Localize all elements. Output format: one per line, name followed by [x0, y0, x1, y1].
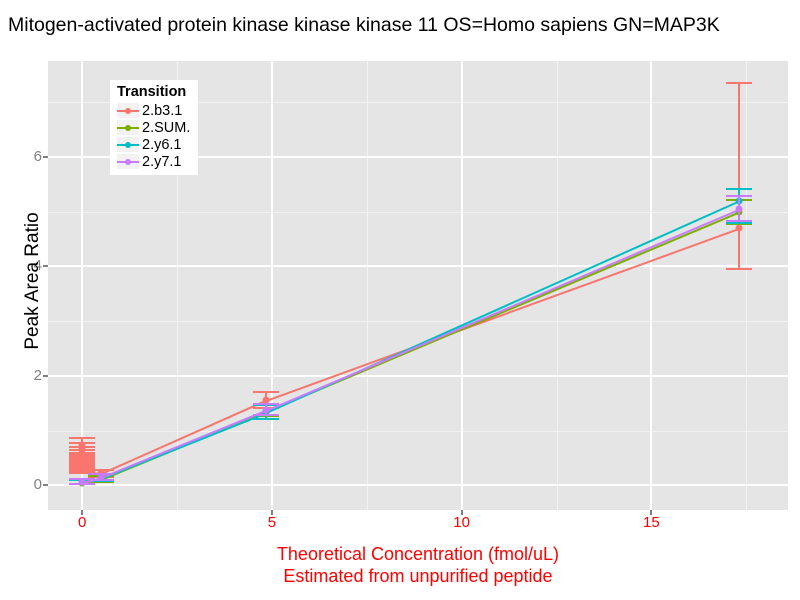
- x-tick-label: 0: [78, 514, 86, 531]
- gridline-minor-horizontal: [48, 321, 788, 322]
- error-bar-cap: [253, 418, 279, 420]
- series-line-segment: [101, 400, 267, 475]
- legend-key-icon: [117, 103, 139, 118]
- x-tick-label: 5: [268, 514, 276, 531]
- gridline-major-vertical: [650, 61, 652, 510]
- x-tick-label: 10: [453, 514, 470, 531]
- gridline-major-vertical: [461, 61, 463, 510]
- error-bar-cap: [726, 195, 752, 197]
- data-point: [79, 467, 86, 474]
- x-tick-mark: [461, 510, 463, 515]
- gridline-major-horizontal: [48, 484, 788, 486]
- x-axis-title-line-2: Estimated from unpurified peptide: [48, 565, 788, 587]
- legend-key-icon: [117, 154, 139, 169]
- data-point: [735, 225, 742, 232]
- legend-item-2-b3-1[interactable]: 2.b3.1: [117, 102, 190, 119]
- error-bar-cap: [253, 414, 279, 416]
- series-line-segment: [266, 201, 739, 414]
- gridline-minor-horizontal: [48, 212, 788, 213]
- x-axis-title-line-1: Theoretical Concentration (fmol/uL): [48, 543, 788, 565]
- error-bar-cap: [726, 82, 752, 84]
- y-tick-label: 0: [34, 476, 42, 493]
- legend-item-label: 2.b3.1: [142, 103, 182, 119]
- error-bar-cap: [253, 403, 279, 405]
- legend-item-label: 2.SUM.: [142, 120, 190, 136]
- series-line-segment: [266, 209, 739, 412]
- series-line-segment: [101, 412, 267, 480]
- x-tick-mark: [650, 510, 652, 515]
- y-axis-title: Peak Area Ratio: [22, 156, 44, 406]
- error-bar-cap: [253, 391, 279, 393]
- legend-key-icon: [117, 137, 139, 152]
- legend-item-2-y6-1[interactable]: 2.y6.1: [117, 136, 190, 153]
- error-bar-cap: [69, 437, 95, 439]
- gridline-minor-vertical: [746, 61, 747, 510]
- error-bar-cap: [726, 220, 752, 222]
- x-tick-mark: [271, 510, 273, 515]
- chart-plot: Mitogen-activated protein kinase kinase …: [0, 0, 800, 600]
- error-bar-cap: [726, 188, 752, 190]
- legend-items: 2.b3.12.SUM.2.y6.12.y7.1: [117, 102, 190, 170]
- series-line-segment: [101, 411, 267, 481]
- x-tick-label: 15: [643, 514, 660, 531]
- gridline-minor-vertical: [367, 61, 368, 510]
- legend-item-2-y7-1[interactable]: 2.y7.1: [117, 153, 190, 170]
- legend-item-2-sum-[interactable]: 2.SUM.: [117, 119, 190, 136]
- data-point: [79, 478, 86, 485]
- data-point: [263, 406, 270, 413]
- gridline-minor-horizontal: [48, 431, 788, 432]
- gridline-major-horizontal: [48, 375, 788, 377]
- x-axis-title: Theoretical Concentration (fmol/uL) Esti…: [48, 543, 788, 587]
- legend: Transition 2.b3.12.SUM.2.y6.12.y7.1: [110, 80, 198, 175]
- page-title: Mitogen-activated protein kinase kinase …: [8, 13, 800, 37]
- y-tick-mark: [43, 484, 48, 486]
- x-tick-mark: [81, 510, 83, 515]
- data-point: [98, 474, 105, 481]
- legend-item-label: 2.y6.1: [142, 137, 182, 153]
- series-line-segment: [266, 212, 739, 413]
- legend-key-icon: [117, 120, 139, 135]
- error-bar-cap: [726, 268, 752, 270]
- data-point: [735, 205, 742, 212]
- gridline-major-horizontal: [48, 265, 788, 267]
- series-line-segment: [101, 410, 267, 479]
- gridline-minor-vertical: [557, 61, 558, 510]
- gridline-major-vertical: [271, 61, 273, 510]
- error-bar-vertical: [738, 83, 740, 269]
- legend-title: Transition: [117, 84, 190, 100]
- legend-item-label: 2.y7.1: [142, 154, 182, 170]
